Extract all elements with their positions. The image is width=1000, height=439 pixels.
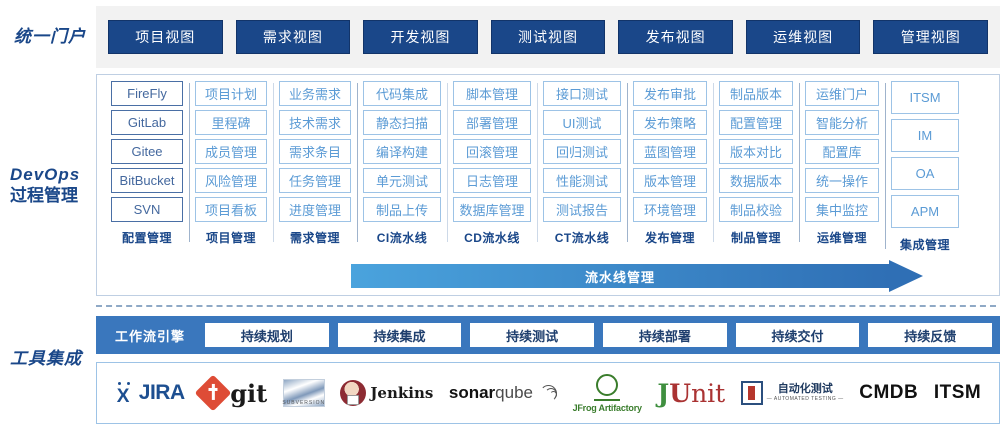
column-caption-project-management: 项目管理 — [195, 229, 267, 246]
cell-data-version[interactable]: 数据版本 — [719, 168, 793, 193]
cell-unit-test[interactable]: 单元测试 — [363, 168, 441, 193]
jira-wordmark: JIRA — [139, 381, 185, 405]
cell-release-approval[interactable]: 发布审批 — [633, 81, 707, 106]
portal-label-text: 统一门户 — [14, 26, 96, 47]
workflow-item-continuous-deployment[interactable]: 持续部署 — [603, 323, 727, 347]
cell-code-integration[interactable]: 代码集成 — [363, 81, 441, 106]
cell-technical-requirement[interactable]: 技术需求 — [279, 110, 351, 135]
cell-release-strategy[interactable]: 发布策略 — [633, 110, 707, 135]
workflow-engine-title: 工作流引擎 — [104, 326, 196, 345]
section-divider — [96, 305, 996, 307]
cell-deploy-management[interactable]: 部署管理 — [453, 110, 531, 135]
portal-button-project-view[interactable]: 项目视图 — [108, 20, 223, 54]
cell-itsm[interactable]: ITSM — [891, 81, 959, 114]
tools-label-text: 工具集成 — [10, 348, 96, 369]
devops-columns: FireFly GitLab Gitee BitBucket SVN 配置管理 … — [105, 81, 991, 263]
devops-column-integration-management: ITSM IM OA APM 集成管理 — [885, 81, 965, 253]
git-wordmark: git — [230, 379, 267, 408]
jfrog-artifactory-logo: JFrog Artifactory — [573, 374, 642, 413]
devops-process-section: DevOps 过程管理 FireFly GitLab Gitee BitBuck… — [0, 74, 1000, 296]
cell-milestone[interactable]: 里程碑 — [195, 110, 267, 135]
tool-integration-section: 工具集成 工作流引擎 持续规划 持续集成 持续测试 持续部署 持续交付 持续反馈… — [0, 316, 1000, 434]
pipeline-ribbon-wrap: 流水线管理 — [97, 264, 999, 288]
cell-rollback-management[interactable]: 回滚管理 — [453, 139, 531, 164]
cell-regression-test[interactable]: 回归测试 — [543, 139, 621, 164]
cell-compile-build[interactable]: 编译构建 — [363, 139, 441, 164]
tools-section-label: 工具集成 — [0, 316, 96, 369]
subversion-logo: SUBVERSION — [283, 379, 325, 407]
column-caption-cd-pipeline: CD流水线 — [453, 229, 531, 246]
workflow-engine-bar: 工作流引擎 持续规划 持续集成 持续测试 持续部署 持续交付 持续反馈 — [96, 316, 1000, 354]
devops-grid-panel: FireFly GitLab Gitee BitBucket SVN 配置管理 … — [96, 74, 1000, 296]
jira-icon: X — [115, 382, 135, 404]
cell-ops-portal[interactable]: 运维门户 — [805, 81, 879, 106]
unified-portal-section: 统一门户 项目视图 需求视图 开发视图 测试视图 发布视图 运维视图 管理视图 — [0, 6, 1000, 68]
cell-requirement-item[interactable]: 需求条目 — [279, 139, 351, 164]
cell-script-management[interactable]: 脚本管理 — [453, 81, 531, 106]
cell-config-repository[interactable]: 配置库 — [805, 139, 879, 164]
devops-label-en: DevOps — [10, 165, 80, 184]
workflow-item-continuous-feedback[interactable]: 持续反馈 — [868, 323, 992, 347]
cell-artifact-version[interactable]: 制品版本 — [719, 81, 793, 106]
cell-blueprint-management[interactable]: 蓝图管理 — [633, 139, 707, 164]
jfrog-ring-icon — [596, 374, 618, 396]
git-logo: git — [200, 379, 267, 408]
jenkins-logo: Jenkins — [340, 380, 433, 406]
column-caption-config-management: 配置管理 — [111, 229, 183, 246]
devops-column-config-management: FireFly GitLab Gitee BitBucket SVN 配置管理 — [105, 81, 189, 246]
junit-letter-j: J — [657, 379, 669, 408]
cell-member-management[interactable]: 成员管理 — [195, 139, 267, 164]
sonar-wave-icon — [537, 384, 557, 402]
junit-letters-nit: nit — [691, 379, 725, 408]
column-caption-artifact-management: 制品管理 — [719, 229, 793, 246]
cell-gitee[interactable]: Gitee — [111, 139, 183, 164]
portal-button-test-view[interactable]: 测试视图 — [491, 20, 606, 54]
cell-performance-test[interactable]: 性能测试 — [543, 168, 621, 193]
junit-wordmark: JUnit — [657, 379, 725, 408]
cmdb-logo: CMDB — [859, 382, 918, 404]
column-caption-ct-pipeline: CT流水线 — [543, 229, 621, 246]
cell-artifact-upload[interactable]: 制品上传 — [363, 197, 441, 222]
subversion-icon: SUBVERSION — [283, 379, 325, 407]
column-caption-ci-pipeline: CI流水线 — [363, 229, 441, 246]
sonarqube-wordmark: sonarqube — [449, 383, 533, 403]
devops-column-requirement-management: 业务需求 技术需求 需求条目 任务管理 进度管理 需求管理 — [273, 81, 357, 246]
cell-oa[interactable]: OA — [891, 157, 959, 190]
cell-progress-management[interactable]: 进度管理 — [279, 197, 351, 222]
jfrog-line-icon — [594, 399, 620, 401]
cell-bitbucket[interactable]: BitBucket — [111, 168, 183, 193]
jira-logo: X JIRA — [115, 381, 185, 405]
cell-unified-operation[interactable]: 统一操作 — [805, 168, 879, 193]
junit-letter-u: U — [669, 379, 691, 408]
cell-project-board[interactable]: 项目看板 — [195, 197, 267, 222]
column-caption-integration-management: 集成管理 — [891, 236, 959, 253]
devops-column-ct-pipeline: 接口测试 UI测试 回归测试 性能测试 测试报告 CT流水线 — [537, 81, 627, 246]
automated-testing-icon — [741, 381, 763, 405]
sonarqube-word-light: qube — [495, 383, 533, 402]
devops-column-cd-pipeline: 脚本管理 部署管理 回滚管理 日志管理 数据库管理 CD流水线 — [447, 81, 537, 246]
cell-project-plan[interactable]: 项目计划 — [195, 81, 267, 106]
pipeline-arrow: 流水线管理 — [351, 264, 923, 288]
portal-button-strip: 项目视图 需求视图 开发视图 测试视图 发布视图 运维视图 管理视图 — [96, 6, 1000, 68]
workflow-item-continuous-integration[interactable]: 持续集成 — [338, 323, 462, 347]
arrow-right-icon — [889, 260, 923, 292]
itsm-logo: ITSM — [934, 382, 981, 404]
cell-version-management[interactable]: 版本管理 — [633, 168, 707, 193]
automated-testing-logo: 自动化测试 — AUTOMATED TESTING — — [741, 381, 844, 405]
cell-firefly[interactable]: FireFly — [111, 81, 183, 106]
cell-interface-test[interactable]: 接口测试 — [543, 81, 621, 106]
cell-environment-management[interactable]: 环境管理 — [633, 197, 707, 222]
devops-section-label: DevOps 过程管理 — [0, 164, 96, 207]
column-caption-operations-management: 运维管理 — [805, 229, 879, 246]
column-caption-release-management: 发布管理 — [633, 229, 707, 246]
cell-svn[interactable]: SVN — [111, 197, 183, 222]
automated-testing-wordmark-cn: 自动化测试 — [778, 384, 833, 396]
jenkins-butler-icon — [340, 380, 366, 406]
devops-label-cn: 过程管理 — [10, 185, 96, 206]
cell-log-management[interactable]: 日志管理 — [453, 168, 531, 193]
cell-gitlab[interactable]: GitLab — [111, 110, 183, 135]
devops-column-operations-management: 运维门户 智能分析 配置库 统一操作 集中监控 运维管理 — [799, 81, 885, 246]
cell-business-requirement[interactable]: 业务需求 — [279, 81, 351, 106]
jenkins-wordmark: Jenkins — [370, 384, 433, 402]
jfrog-wordmark: JFrog Artifactory — [573, 403, 642, 413]
cell-im[interactable]: IM — [891, 119, 959, 152]
workflow-item-continuous-testing[interactable]: 持续测试 — [470, 323, 594, 347]
portal-button-development-view[interactable]: 开发视图 — [363, 20, 478, 54]
cell-artifact-verification[interactable]: 制品校验 — [719, 197, 793, 222]
cell-task-management[interactable]: 任务管理 — [279, 168, 351, 193]
portal-button-release-view[interactable]: 发布视图 — [618, 20, 733, 54]
cell-version-comparison[interactable]: 版本对比 — [719, 139, 793, 164]
cell-test-report[interactable]: 测试报告 — [543, 197, 621, 222]
column-caption-requirement-management: 需求管理 — [279, 229, 351, 246]
cmdb-wordmark: CMDB — [859, 382, 918, 404]
portal-button-operations-view[interactable]: 运维视图 — [746, 20, 861, 54]
junit-logo: JUnit — [657, 379, 725, 408]
sonarqube-word-bold: sonar — [449, 383, 495, 402]
portal-section-label: 统一门户 — [0, 26, 96, 47]
cell-configuration-management[interactable]: 配置管理 — [719, 110, 793, 135]
subversion-wordmark: SUBVERSION — [282, 400, 325, 406]
portal-button-requirement-view[interactable]: 需求视图 — [236, 20, 351, 54]
cell-apm[interactable]: APM — [891, 195, 959, 228]
tool-logo-bar: X JIRA git SUBVERSION Jenkins sonarqube — [96, 362, 1000, 424]
devops-label-text: DevOps 过程管理 — [10, 164, 96, 207]
cell-centralized-monitoring[interactable]: 集中监控 — [805, 197, 879, 222]
jira-dot-left — [118, 382, 121, 385]
workflow-item-continuous-delivery[interactable]: 持续交付 — [736, 323, 860, 347]
pipeline-arrow-label: 流水线管理 — [585, 267, 655, 286]
cell-intelligent-analysis[interactable]: 智能分析 — [805, 110, 879, 135]
jira-glyph: X — [117, 387, 130, 406]
devops-column-artifact-management: 制品版本 配置管理 版本对比 数据版本 制品校验 制品管理 — [713, 81, 799, 246]
workflow-item-continuous-planning[interactable]: 持续规划 — [205, 323, 329, 347]
sonarqube-logo: sonarqube — [449, 383, 557, 403]
cell-ui-test[interactable]: UI测试 — [543, 110, 621, 135]
automated-testing-wordmark-en: — AUTOMATED TESTING — — [767, 396, 844, 402]
itsm-wordmark: ITSM — [934, 382, 981, 404]
cell-database-management[interactable]: 数据库管理 — [453, 197, 531, 222]
devops-column-release-management: 发布审批 发布策略 蓝图管理 版本管理 环境管理 发布管理 — [627, 81, 713, 246]
portal-button-management-view[interactable]: 管理视图 — [873, 20, 988, 54]
cell-risk-management[interactable]: 风险管理 — [195, 168, 267, 193]
tools-content: 工作流引擎 持续规划 持续集成 持续测试 持续部署 持续交付 持续反馈 X JI… — [96, 316, 1000, 424]
jira-dot-right — [127, 382, 130, 385]
git-icon — [195, 375, 232, 412]
devops-column-project-management: 项目计划 里程碑 成员管理 风险管理 项目看板 项目管理 — [189, 81, 273, 246]
devops-column-ci-pipeline: 代码集成 静态扫描 编译构建 单元测试 制品上传 CI流水线 — [357, 81, 447, 246]
cell-static-scan[interactable]: 静态扫描 — [363, 110, 441, 135]
